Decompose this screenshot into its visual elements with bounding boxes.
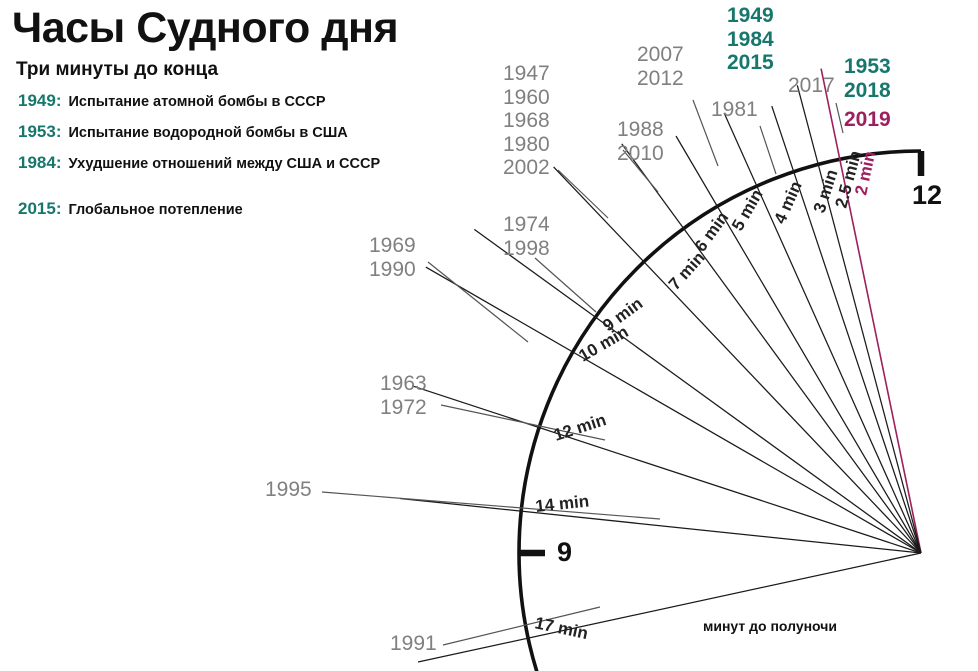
year-group-9min: 19741998 (503, 213, 550, 260)
minute-label-12min: 12 min (551, 410, 608, 445)
clock-numeral-12: 12 (912, 180, 942, 211)
leader-1969-1990 (428, 262, 528, 342)
legend-colon: : (56, 153, 62, 173)
legend-colon: : (56, 199, 62, 219)
legend-year: 1984 (18, 153, 56, 173)
legend-item-2015: 2015 : Глобальное потепление (18, 199, 512, 219)
minute-label-7min: 7 min (665, 248, 709, 294)
legend-description: Ухудшение отношений между США и СССР (69, 156, 381, 172)
ray-12min (412, 386, 921, 553)
year-group-10min: 19691990 (369, 234, 416, 281)
leader-1974-1998 (535, 258, 596, 312)
legend-panel: Часы Судного дня Три минуты до конца 194… (12, 6, 512, 230)
year-group-6min: 19882010 (617, 118, 664, 165)
year-group-17min: 1991 (390, 632, 437, 656)
legend-item-1949: 1949 : Испытание атомной бомбы в СССР (18, 91, 512, 111)
axis-caption: минут до полуночи (703, 618, 837, 634)
legend-item-1953: 1953 : Испытание водородной бомбы в США (18, 122, 512, 142)
legend-year: 2015 (18, 199, 56, 219)
leader-1947-2002 (558, 170, 608, 218)
ray-17min (418, 553, 921, 662)
year-group-2min-teal: 19532018 (844, 55, 891, 102)
ray-6min (622, 144, 921, 553)
year-group-5min: 20072012 (637, 43, 684, 90)
minute-label-5min: 5 min (728, 186, 767, 234)
leader-2017 (836, 103, 843, 133)
doomsday-clock-infographic: 2 min 2.5 min 3 min 4 min 5 min 6 min 7 … (0, 0, 978, 671)
legend-colon: : (56, 122, 62, 142)
ray-14min (400, 499, 921, 554)
leader-1995 (322, 492, 660, 519)
legend-colon: : (56, 91, 62, 111)
minute-labels: 2 min 2.5 min 3 min 4 min 5 min 6 min 7 … (533, 149, 879, 644)
year-group-14min: 1995 (265, 478, 312, 502)
legend-year: 1953 (18, 122, 56, 142)
legend-description: Испытание водородной бомбы в США (69, 125, 348, 141)
minute-label-4min: 4 min (770, 178, 805, 226)
legend-year: 1949 (18, 91, 56, 111)
ray-2min (821, 69, 921, 553)
legend-description: Испытание атомной бомбы в СССР (69, 94, 326, 110)
ray-10min (426, 267, 921, 553)
year-group-4min: 1981 (711, 98, 758, 122)
year-group-12min: 19631972 (380, 372, 427, 419)
year-group-3min-teal: 194919842015 (727, 4, 774, 75)
legend-description: Глобальное потепление (69, 202, 243, 218)
minute-label-6min: 6 min (691, 208, 732, 255)
year-group-2min-magenta: 2019 (844, 108, 891, 132)
year-group-2.5min: 2017 (788, 74, 835, 98)
leader-1981 (760, 126, 776, 174)
page-title: Часы Судного дня (12, 6, 512, 51)
legend-item-1984: 1984 : Ухудшение отношений между США и С… (18, 153, 512, 173)
page-subtitle: Три минуты до конца (16, 59, 512, 81)
minute-label-17min: 17 min (533, 613, 590, 643)
year-group-7min: 19471960196819802002 (503, 62, 550, 180)
minute-label-10min: 10 min (576, 322, 632, 365)
clock-numeral-9: 9 (557, 537, 572, 568)
